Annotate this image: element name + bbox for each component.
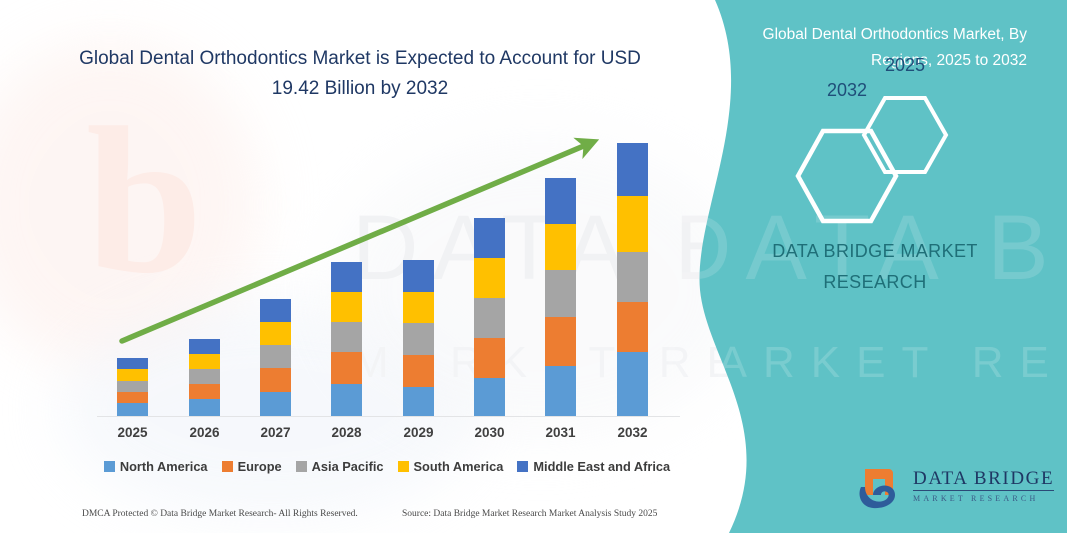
legend-label: North America (120, 459, 208, 474)
x-axis-label-2031: 2031 (531, 425, 591, 440)
bar-segment (403, 387, 434, 416)
bar-segment (117, 392, 148, 403)
bar-segment (189, 339, 220, 354)
bar-segment (403, 355, 434, 387)
bar-segment (117, 358, 148, 369)
panel-brand-name: DATA BRIDGE MARKET RESEARCH (727, 236, 1023, 298)
bar-segment (331, 352, 362, 384)
x-axis-label-2030: 2030 (460, 425, 520, 440)
bar-segment (545, 270, 576, 317)
legend-label: Asia Pacific (312, 459, 384, 474)
bar-2028 (331, 262, 362, 416)
footer-copyright: DMCA Protected © Data Bridge Market Rese… (82, 509, 358, 519)
bar-segment (474, 378, 505, 416)
legend-swatch-icon (398, 461, 409, 472)
bar-2031 (545, 178, 576, 416)
x-axis-label-2032: 2032 (603, 425, 663, 440)
chart-plot-area: 20252026202720282029203020312032 (0, 0, 710, 533)
bar-segment (260, 368, 291, 392)
footer-source: Source: Data Bridge Market Research Mark… (402, 509, 657, 519)
right-teal-panel: DATA BRIDGE MARKET RESEARCH Global Denta… (687, 0, 1067, 533)
bar-segment (474, 218, 505, 258)
panel-watermark-bottom: MARKET RESEARCH (665, 338, 1067, 388)
bar-segment (189, 369, 220, 384)
legend-swatch-icon (222, 461, 233, 472)
company-logo: DATA BRIDGE MARKET RESEARCH (855, 465, 1041, 517)
bar-segment (331, 384, 362, 416)
bar-segment (117, 369, 148, 381)
bar-segment (260, 299, 291, 322)
bar-2026 (189, 339, 220, 416)
legend-label: Europe (238, 459, 282, 474)
bar-segment (474, 338, 505, 378)
logo-name: DATA BRIDGE (913, 469, 1054, 489)
bar-segment (545, 317, 576, 366)
infographic-canvas: b DATA BRIDGE MARKET RESEARCH Global Den… (0, 0, 1067, 533)
bar-segment (403, 323, 434, 355)
bar-segment (260, 392, 291, 416)
hexagon-2032-label: 2032 (795, 80, 899, 176)
bar-segment (117, 403, 148, 416)
bar-2025 (117, 358, 148, 416)
bar-segment (403, 292, 434, 323)
bar-segment (474, 258, 505, 298)
bar-segment (331, 262, 362, 292)
legend-swatch-icon (104, 461, 115, 472)
bar-segment (617, 143, 648, 196)
bar-segment (545, 178, 576, 224)
bar-segment (331, 322, 362, 352)
bar-segment (545, 366, 576, 416)
bar-segment (117, 381, 148, 392)
hexagon-group: 2025 2032 (783, 95, 973, 215)
x-axis-label-2025: 2025 (103, 425, 163, 440)
x-axis-line (97, 416, 680, 417)
bar-segment (474, 298, 505, 338)
chart-legend: North AmericaEuropeAsia PacificSouth Ame… (97, 459, 677, 474)
bar-segment (189, 399, 220, 416)
bar-2030 (474, 218, 505, 416)
legend-item[interactable]: Asia Pacific (296, 459, 384, 474)
bar-segment (617, 352, 648, 416)
legend-item[interactable]: Europe (222, 459, 282, 474)
legend-item[interactable]: Middle East and Africa (517, 459, 670, 474)
bar-segment (403, 260, 434, 292)
db-mark-icon (855, 465, 911, 513)
legend-item[interactable]: North America (104, 459, 208, 474)
legend-label: South America (414, 459, 504, 474)
bar-segment (260, 322, 291, 345)
logo-wordmark: DATA BRIDGE MARKET RESEARCH (913, 469, 1054, 505)
x-axis-label-2026: 2026 (175, 425, 235, 440)
bar-segment (189, 354, 220, 369)
bar-segment (331, 292, 362, 322)
legend-label: Middle East and Africa (533, 459, 670, 474)
bar-segment (189, 384, 220, 399)
bar-segment (617, 302, 648, 352)
bar-2032 (617, 143, 648, 416)
x-axis-label-2029: 2029 (389, 425, 449, 440)
bar-segment (617, 252, 648, 302)
bar-2029 (403, 260, 434, 416)
x-axis-label-2028: 2028 (317, 425, 377, 440)
legend-item[interactable]: South America (398, 459, 504, 474)
bar-segment (545, 224, 576, 270)
logo-tagline: MARKET RESEARCH (913, 490, 1054, 505)
legend-swatch-icon (296, 461, 307, 472)
x-axis-label-2027: 2027 (246, 425, 306, 440)
bar-segment (260, 345, 291, 368)
bar-segment (617, 196, 648, 252)
bar-2027 (260, 299, 291, 416)
legend-swatch-icon (517, 461, 528, 472)
